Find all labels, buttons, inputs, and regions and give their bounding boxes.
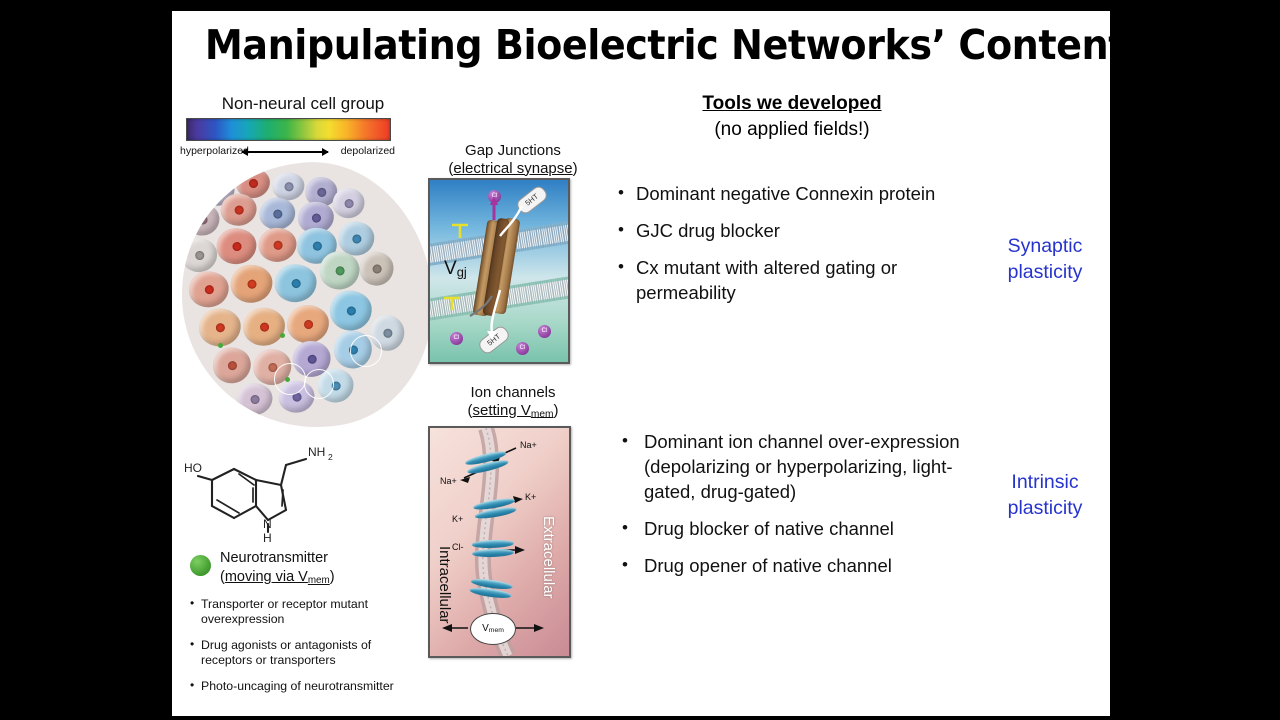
paren-close: ) xyxy=(554,402,559,419)
intrinsic-plasticity-line1: Intrinsic xyxy=(980,469,1110,495)
k-right-label: K+ xyxy=(525,492,536,502)
vgj-subscript: gj xyxy=(457,264,467,279)
ion-channel-caption: Ion channels (setting Vmem) xyxy=(430,384,596,423)
svg-text:HO: HO xyxy=(184,461,202,475)
neurotransmitter-dot-1 xyxy=(285,377,290,382)
svg-text:H: H xyxy=(263,531,272,545)
tools-heading: Tools we developed xyxy=(602,93,982,115)
ion-channel-caption-line1: Ion channels xyxy=(430,384,596,402)
polarization-scale: hyperpolarized depolarized xyxy=(180,144,395,162)
left-bullet-list: Transporter or receptor mutant overexpre… xyxy=(190,597,425,705)
voltage-colorbar xyxy=(186,118,391,141)
setting-vmem-text: setting V xyxy=(472,402,530,419)
highlight-circle-1 xyxy=(350,335,382,367)
svg-text:N: N xyxy=(263,517,272,531)
list-item: Drug opener of native channel xyxy=(612,553,964,578)
na-top-label: Na+ xyxy=(520,440,537,450)
legend-line-2: (moving via Vmem) xyxy=(220,568,335,590)
highlight-circle-2 xyxy=(274,363,306,395)
cell-cluster-image xyxy=(182,163,432,428)
legend-paren-close: ) xyxy=(330,569,335,585)
gap-junction-caption-line2: (electrical synapse) xyxy=(434,160,592,178)
list-item: Cx mutant with altered gating or permeab… xyxy=(612,255,964,305)
gap-junction-caption-line1: Gap Junctions xyxy=(434,142,592,160)
svg-text:NH: NH xyxy=(308,445,325,459)
na-left-label: Na+ xyxy=(440,476,457,486)
cl-label: Cl- xyxy=(452,542,464,552)
legend-subscript: mem xyxy=(308,575,330,586)
list-item: Transporter or receptor mutant overexpre… xyxy=(190,597,425,627)
depolarized-label: depolarized xyxy=(341,145,395,157)
vmem-symbol: V xyxy=(482,623,489,634)
vmem-indicator: Vmem xyxy=(470,613,516,645)
list-item: Dominant ion channel over-expression (de… xyxy=(612,429,964,504)
svg-text:2: 2 xyxy=(328,452,333,462)
intracellular-label: Intracellular xyxy=(436,546,453,624)
neurotransmitter-dot-3 xyxy=(218,343,223,348)
hyperpolarized-label: hyperpolarized xyxy=(180,145,249,157)
ion-channel-diagram: Na+ Na+ K+ K+ Cl- Intracellular Extracel… xyxy=(428,426,571,658)
extracellular-label: Extracellular xyxy=(540,516,557,599)
synaptic-plasticity-tag: Synaptic plasticity xyxy=(980,233,1110,285)
legend-underlined-text: moving via V xyxy=(225,569,308,585)
intrinsic-plasticity-tag: Intrinsic plasticity xyxy=(980,469,1110,521)
intrinsic-tools-list: Dominant ion channel over-expression (de… xyxy=(612,429,964,590)
gap-junction-diagram: Cl Cl Cl Cl 5HT 5HT Vgj xyxy=(428,178,570,364)
vmem-subscript: mem xyxy=(531,408,554,419)
neurotransmitter-dot-icon xyxy=(190,555,211,576)
intrinsic-plasticity-line2: plasticity xyxy=(980,495,1110,521)
vmem-sub: mem xyxy=(489,627,504,634)
list-item: Dominant negative Connexin protein xyxy=(612,181,964,206)
highlight-circle-3 xyxy=(304,369,334,399)
list-item: Drug blocker of native channel xyxy=(612,516,964,541)
gap-junction-caption: Gap Junctions (electrical synapse) xyxy=(434,142,592,177)
synaptic-tools-list: Dominant negative Connexin protein GJC d… xyxy=(612,181,964,317)
legend-line-1: Neurotransmitter xyxy=(220,549,335,568)
synaptic-plasticity-line1: Synaptic xyxy=(980,233,1110,259)
list-item: Photo-uncaging of neurotransmitter xyxy=(190,679,425,694)
k-left-label: K+ xyxy=(452,514,463,524)
chloride-channel xyxy=(472,539,515,559)
presentation-slide: Manipulating Bioelectric Networks’ Conte… xyxy=(172,11,1110,716)
slide-viewer: Manipulating Bioelectric Networks’ Conte… xyxy=(0,0,1280,720)
cell-group-label: Non-neural cell group xyxy=(178,94,428,114)
ion-channel-caption-line2: (setting Vmem) xyxy=(430,402,596,423)
list-item: Drug agonists or antagonists of receptor… xyxy=(190,638,425,668)
gap-junction-voltage-label: Vgj xyxy=(444,258,467,280)
tools-subheading: (no applied fields!) xyxy=(602,119,982,141)
vgj-symbol: V xyxy=(444,258,457,279)
serotonin-structure: HO NH 2 N H xyxy=(182,436,382,551)
double-arrow-icon xyxy=(242,151,328,153)
neurotransmitter-dot-2 xyxy=(280,333,285,338)
synaptic-plasticity-line2: plasticity xyxy=(980,259,1110,285)
neurotransmitter-legend: Neurotransmitter (moving via Vmem) xyxy=(190,549,440,591)
paren-close: ) xyxy=(573,160,578,177)
electrical-synapse-text: electrical synapse xyxy=(453,160,572,177)
list-item: GJC drug blocker xyxy=(612,218,964,243)
